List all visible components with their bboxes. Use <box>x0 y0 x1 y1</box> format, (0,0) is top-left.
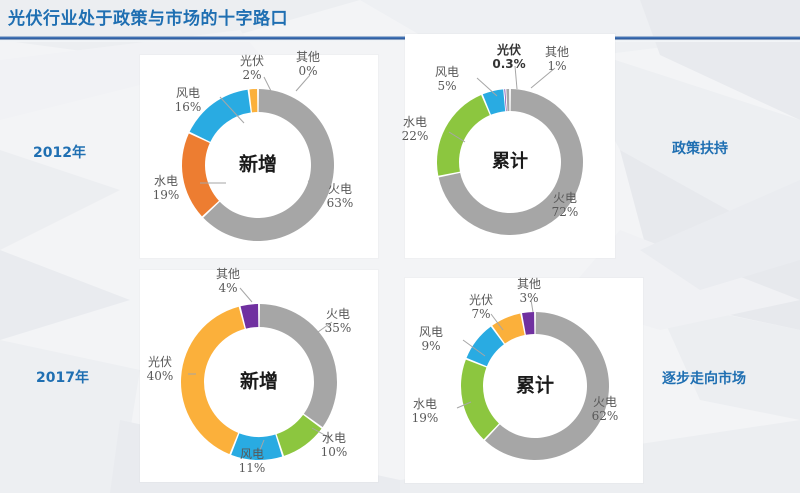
donut-center-title: 新增 <box>239 153 277 176</box>
slice-label-其他: 其他 <box>216 267 240 281</box>
annotation-toward-market: 逐步走向市场 <box>662 368 746 388</box>
donut-chart-2017-total: 累计火电62%水电19%风电9%光伏7%其他3% <box>405 278 643 483</box>
slice-value-光伏: 7% <box>471 307 490 321</box>
slice-label-风电: 风电 <box>176 86 200 100</box>
slice-label-火电: 火电 <box>593 395 617 409</box>
donut-center-title: 累计 <box>492 150 528 172</box>
title-divider-shadow <box>0 40 800 42</box>
donut-slice-水电 <box>182 133 219 216</box>
slice-label-水电: 水电 <box>322 431 346 445</box>
slice-label-光伏: 光伏 <box>148 355 172 369</box>
slice-value-火电: 35% <box>325 321 352 335</box>
donut-slice-其他 <box>506 89 509 111</box>
slice-value-水电: 19% <box>412 411 439 425</box>
slice-label-水电: 水电 <box>403 115 427 129</box>
slide-canvas: 光伏行业处于政策与市场的十字路口 2012年 2017年 政策扶持 逐步走向市场… <box>0 0 800 493</box>
slice-value-水电: 19% <box>153 188 180 202</box>
donut-center-title: 累计 <box>516 375 554 397</box>
slice-value-水电: 22% <box>402 129 429 143</box>
donut-chart-2012-total: 累计火电72%水电22%风电5%光伏0.3%其他1% <box>405 34 615 258</box>
donut-slice-水电 <box>437 95 490 176</box>
slice-value-光伏: 2% <box>242 68 261 82</box>
slice-value-其他: 4% <box>218 281 237 295</box>
slice-value-其他: 0% <box>298 64 317 78</box>
slice-label-光伏: 光伏 <box>496 42 521 57</box>
leader-line <box>264 77 271 91</box>
slice-label-光伏: 光伏 <box>469 293 493 307</box>
year-label-2017: 2017年 <box>36 367 89 387</box>
slice-value-风电: 5% <box>437 79 456 93</box>
donut-chart-2012-new: 新增火电63%水电19%风电16%光伏2%其他0% <box>140 55 378 258</box>
slice-value-其他: 3% <box>519 291 538 305</box>
leader-line <box>240 288 252 302</box>
chart-card-2012-new: 新增火电63%水电19%风电16%光伏2%其他0% <box>140 55 378 258</box>
chart-card-2017-new: 新增火电35%水电10%风电11%光伏40%其他4% <box>140 270 378 482</box>
slice-value-风电: 16% <box>175 100 202 114</box>
donut-slice-水电 <box>461 360 499 440</box>
slice-label-风电: 风电 <box>419 325 443 339</box>
slice-value-风电: 9% <box>421 339 440 353</box>
slice-label-其他: 其他 <box>545 45 569 59</box>
slice-value-光伏: 0.3% <box>492 57 525 71</box>
annotation-policy-support: 政策扶持 <box>672 138 728 158</box>
slice-value-火电: 62% <box>592 409 619 423</box>
slice-value-风电: 11% <box>239 461 266 475</box>
slice-label-其他: 其他 <box>517 277 541 291</box>
slice-value-光伏: 40% <box>147 369 174 383</box>
slice-label-水电: 水电 <box>154 174 178 188</box>
slice-label-火电: 火电 <box>553 191 577 205</box>
slice-value-火电: 63% <box>327 196 354 210</box>
slice-label-风电: 风电 <box>240 447 264 461</box>
slice-label-水电: 水电 <box>413 397 437 411</box>
slice-value-火电: 72% <box>552 205 579 219</box>
slice-value-其他: 1% <box>547 59 566 73</box>
background-pattern <box>0 0 800 493</box>
donut-slice-光伏 <box>249 89 257 112</box>
donut-slice-光伏 <box>181 307 245 454</box>
year-label-2012: 2012年 <box>33 142 86 162</box>
slice-label-风电: 风电 <box>435 65 459 79</box>
slice-label-光伏: 光伏 <box>240 54 264 68</box>
page-title: 光伏行业处于政策与市场的十字路口 <box>8 4 288 29</box>
chart-card-2017-total: 累计火电62%水电19%风电9%光伏7%其他3% <box>405 278 643 483</box>
chart-card-2012-total: 累计火电72%水电22%风电5%光伏0.3%其他1% <box>405 34 615 258</box>
slice-label-其他: 其他 <box>296 50 320 64</box>
slice-label-火电: 火电 <box>326 307 350 321</box>
slice-value-水电: 10% <box>321 445 348 459</box>
donut-center-title: 新增 <box>240 370 278 393</box>
slice-label-火电: 火电 <box>328 182 352 196</box>
donut-chart-2017-new: 新增火电35%水电10%风电11%光伏40%其他4% <box>140 270 378 482</box>
